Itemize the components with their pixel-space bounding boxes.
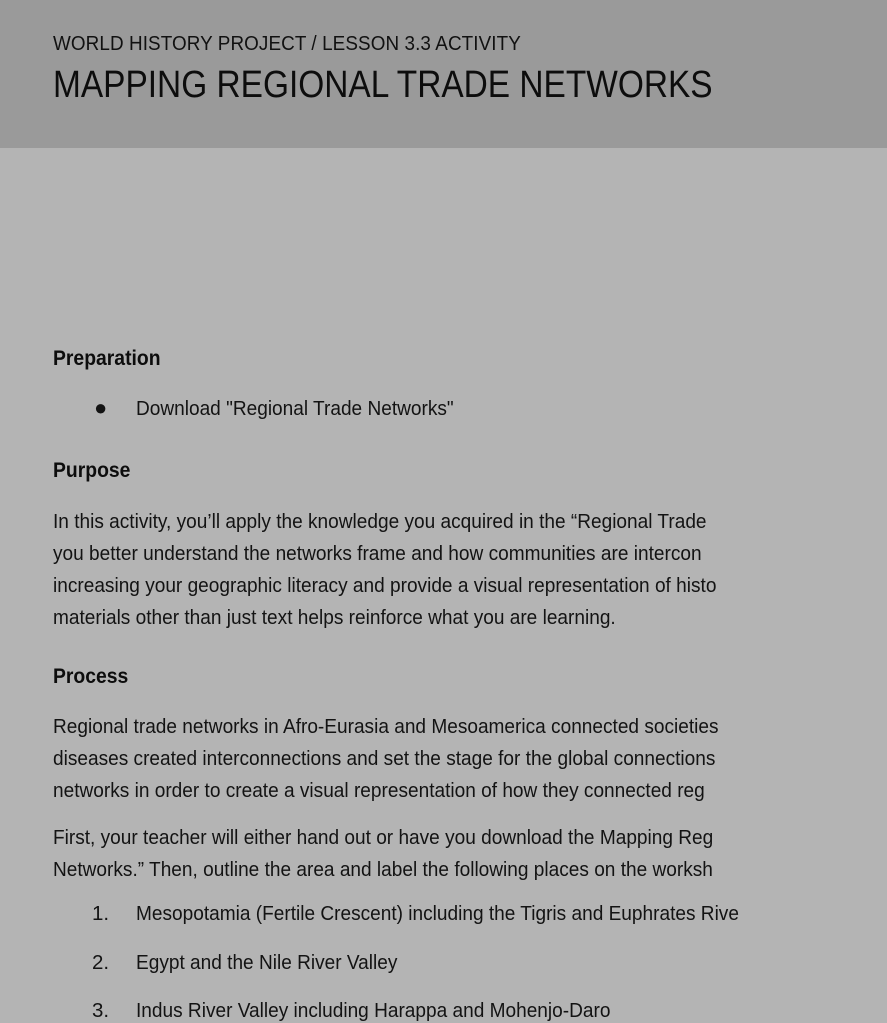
- paragraph-line: diseases created interconnections and se…: [53, 743, 719, 775]
- purpose-paragraph: In this activity, you’ll apply the knowl…: [53, 506, 716, 634]
- paragraph-line: In this activity, you’ll apply the knowl…: [53, 506, 716, 538]
- document-eyebrow: WORLD HISTORY PROJECT / LESSON 3.3 ACTIV…: [53, 32, 521, 56]
- heading-purpose: Purpose: [53, 458, 130, 483]
- paragraph-line: Regional trade networks in Afro-Eurasia …: [53, 711, 719, 743]
- list-item-label: Egypt and the Nile River Valley: [136, 951, 397, 975]
- heading-preparation: Preparation: [53, 346, 161, 371]
- list-item-label: Mesopotamia (Fertile Crescent) including…: [136, 902, 739, 926]
- heading-process: Process: [53, 664, 128, 689]
- process-paragraph-2: First, your teacher will either hand out…: [53, 822, 713, 886]
- document-header-band: WORLD HISTORY PROJECT / LESSON 3.3 ACTIV…: [0, 0, 887, 148]
- paragraph-line: networks in order to create a visual rep…: [53, 775, 719, 807]
- page-title: MAPPING REGIONAL TRADE NETWORKS: [53, 66, 713, 104]
- bullet-dot-icon: ●: [94, 397, 128, 419]
- process-paragraph-1: Regional trade networks in Afro-Eurasia …: [53, 711, 719, 807]
- list-number: 3.: [92, 999, 126, 1023]
- list-item-label: Download "Regional Trade Networks": [136, 397, 454, 421]
- paragraph-line: First, your teacher will either hand out…: [53, 822, 713, 854]
- paragraph-line: you better understand the networks frame…: [53, 538, 716, 570]
- list-number: 2.: [92, 951, 126, 975]
- paragraph-line: Networks.” Then, outline the area and la…: [53, 854, 713, 886]
- paragraph-line: materials other than just text helps rei…: [53, 602, 716, 634]
- paragraph-line: increasing your geographic literacy and …: [53, 570, 716, 602]
- list-number: 1.: [92, 902, 126, 926]
- list-item-label: Indus River Valley including Harappa and…: [136, 999, 610, 1023]
- document-page: WORLD HISTORY PROJECT / LESSON 3.3 ACTIV…: [0, 0, 887, 887]
